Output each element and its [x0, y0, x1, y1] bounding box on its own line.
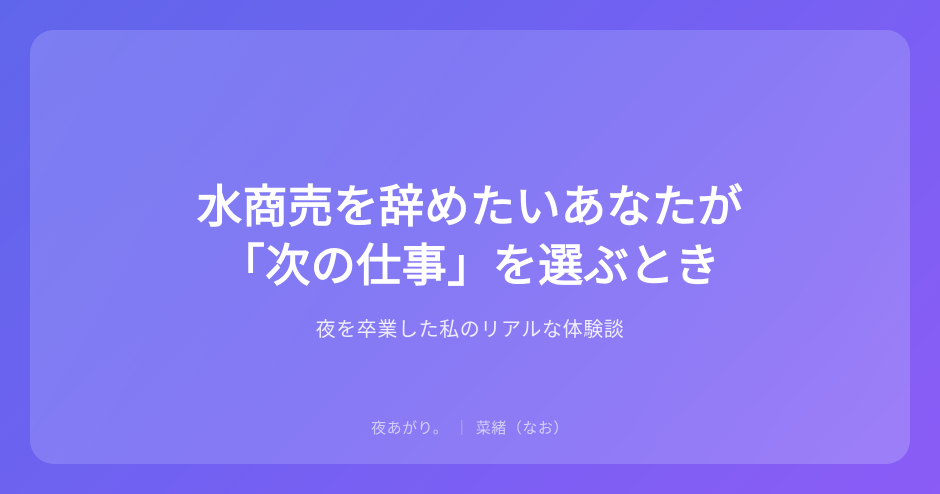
eyecatch-card: 水商売を辞めたいあなたが 「次の仕事」を選ぶとき 夜を卒業した私のリアルな体験談… — [30, 30, 910, 464]
footer-author-name: 菜緒（なお） — [476, 417, 569, 438]
headline-block: 水商売を辞めたいあなたが 「次の仕事」を選ぶとき 夜を卒業した私のリアルな体験談 — [30, 178, 910, 343]
headline-line-2: 「次の仕事」を選ぶとき — [220, 237, 721, 296]
subtitle-text: 夜を卒業した私のリアルな体験談 — [316, 315, 625, 343]
footer-site-name: 夜あがり。 — [371, 417, 448, 438]
eyecatch-canvas: 水商売を辞めたいあなたが 「次の仕事」を選ぶとき 夜を卒業した私のリアルな体験談… — [0, 0, 940, 494]
headline-line-1: 水商売を辞めたいあなたが — [197, 178, 743, 237]
card-footer: 夜あがり。 ｜ 菜緒（なお） — [30, 417, 910, 438]
footer-separator: ｜ — [454, 417, 470, 438]
